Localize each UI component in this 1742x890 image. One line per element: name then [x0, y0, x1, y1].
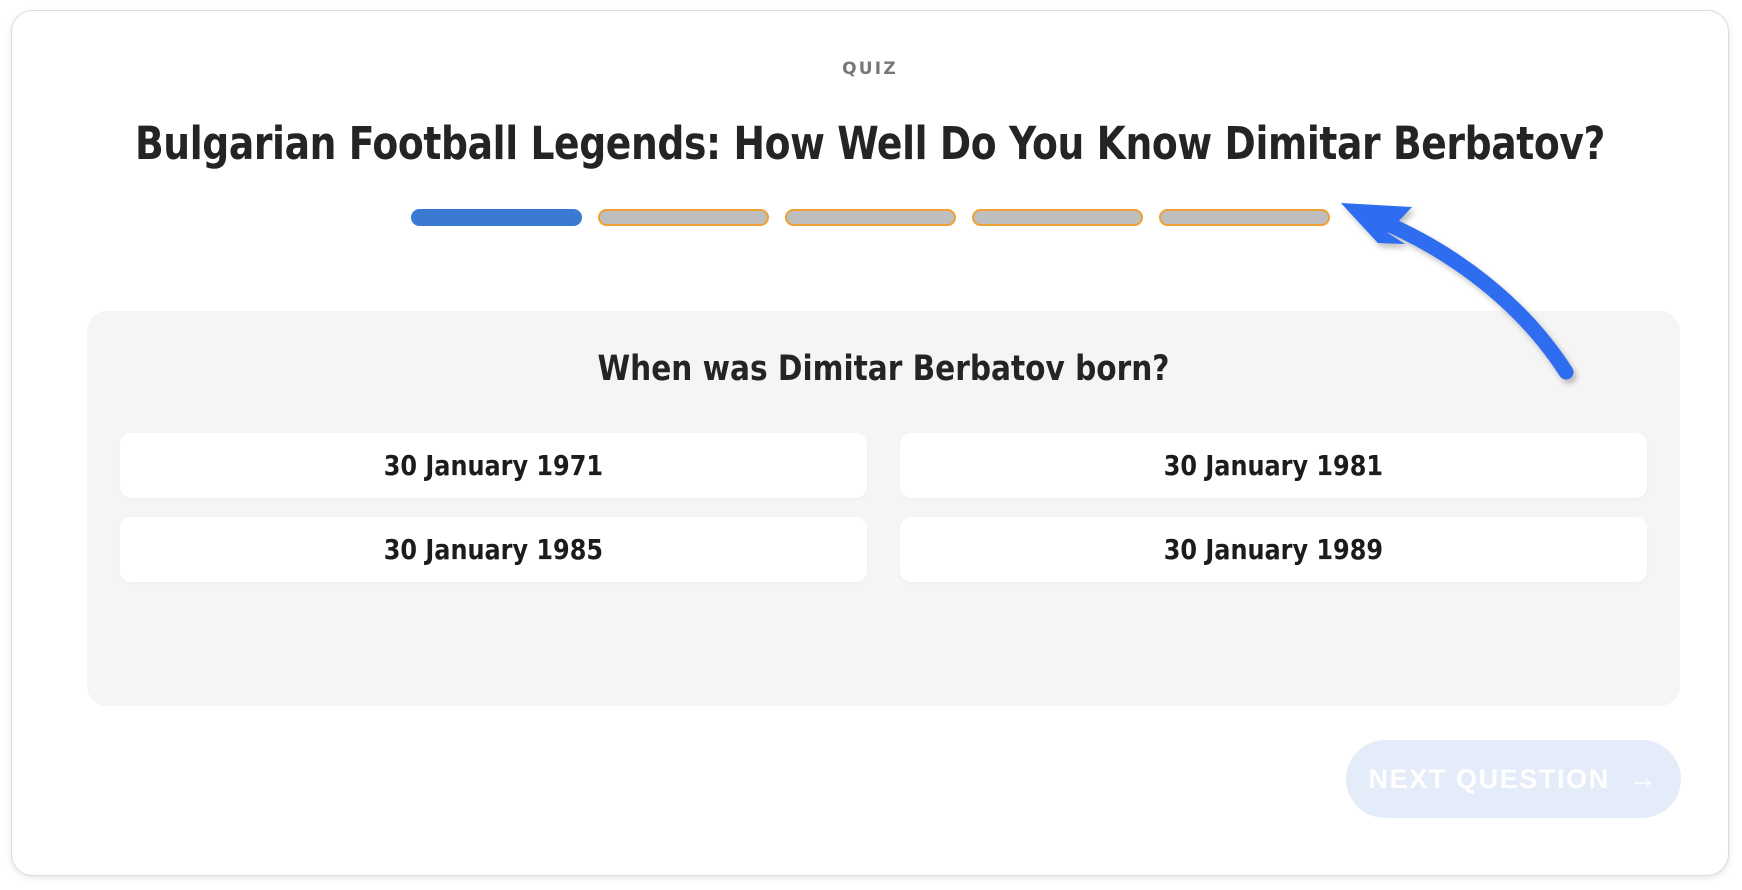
answer-option-1-label: 30 January 1971: [384, 449, 603, 482]
progress-segment-5[interactable]: [1159, 209, 1330, 226]
answer-option-3[interactable]: 30 January 1985: [120, 517, 867, 582]
page-title: Bulgarian Football Legends: How Well Do …: [72, 116, 1668, 172]
next-question-label: NEXT QUESTION: [1369, 764, 1610, 795]
answer-option-4-label: 30 January 1989: [1164, 533, 1383, 566]
progress-segment-3[interactable]: [785, 209, 956, 226]
question-panel: When was Dimitar Berbatov born? 30 Janua…: [87, 311, 1680, 706]
answer-option-1[interactable]: 30 January 1971: [120, 433, 867, 498]
progress-segment-2[interactable]: [598, 209, 769, 226]
answer-option-4[interactable]: 30 January 1989: [900, 517, 1647, 582]
question-text: When was Dimitar Berbatov born?: [135, 349, 1632, 389]
answer-option-2-label: 30 January 1981: [1164, 449, 1383, 482]
progress-segment-1[interactable]: [411, 209, 582, 226]
answer-options: 30 January 1971 30 January 1981 30 Janua…: [120, 433, 1647, 582]
next-question-button[interactable]: NEXT QUESTION →: [1346, 740, 1681, 818]
arrow-right-icon: →: [1628, 765, 1659, 794]
answer-option-2[interactable]: 30 January 1981: [900, 433, 1647, 498]
answer-option-3-label: 30 January 1985: [384, 533, 603, 566]
quiz-eyebrow-label: QUIZ: [12, 59, 1728, 79]
progress-indicator: [12, 209, 1728, 226]
quiz-card: QUIZ Bulgarian Football Legends: How Wel…: [11, 10, 1729, 876]
progress-segment-4[interactable]: [972, 209, 1143, 226]
